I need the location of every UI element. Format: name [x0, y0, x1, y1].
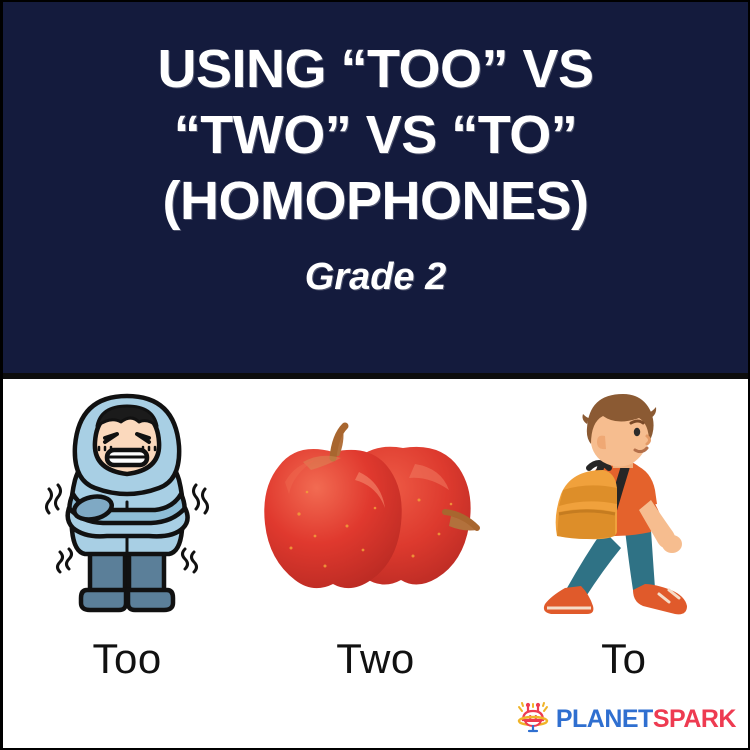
poster-header: USING “TOO” VS “TWO” VS “TO” (HOMOPHONES…: [3, 2, 748, 373]
card-label-too: Too: [93, 637, 162, 681]
page-title-line-3: (HOMOPHONES): [163, 168, 589, 234]
worksheet-poster: USING “TOO” VS “TWO” VS “TO” (HOMOPHONES…: [0, 0, 750, 750]
card-label-to: To: [601, 637, 646, 681]
card-too: Too: [6, 379, 249, 689]
logo-word-planet: PLANET: [556, 705, 653, 733]
boy-walking-with-backpack-icon: [502, 379, 745, 637]
two-red-apples-icon: [254, 379, 497, 637]
card-two: Two: [254, 379, 497, 689]
card-label-two: Two: [336, 637, 415, 681]
shivering-boy-in-winter-coat-icon: [6, 379, 249, 637]
planetspark-logo: PLANETSPARK: [516, 701, 736, 738]
logo-word-spark: SPARK: [653, 705, 736, 733]
page-title-line-1: USING “TOO” VS: [157, 36, 593, 102]
planetspark-robot-icon: [516, 701, 550, 738]
page-title-line-2: “TWO” VS “TO”: [174, 102, 578, 168]
card-to: To: [502, 379, 745, 689]
planetspark-wordmark: PLANETSPARK: [556, 707, 736, 732]
grade-subtitle: Grade 2: [305, 254, 447, 300]
illustration-row: Too: [3, 379, 748, 748]
